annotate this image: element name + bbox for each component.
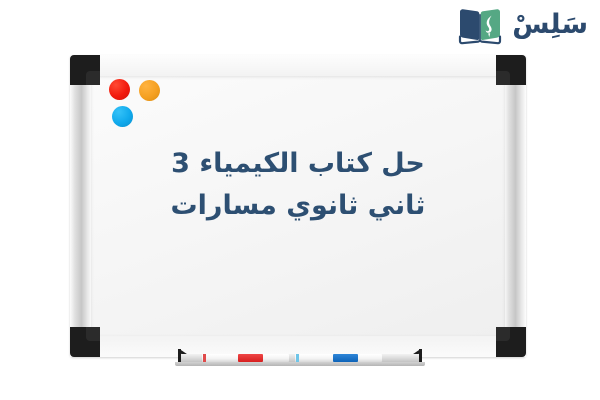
magnet-blue[interactable] xyxy=(112,106,133,127)
banner-stage: سَلِسْ حل كتاب الكيمياء 3 ثاني ثانوي مسا… xyxy=(0,0,600,400)
magnet-orange[interactable] xyxy=(139,80,160,101)
marker-blue-tip xyxy=(296,354,299,362)
magnet-group xyxy=(100,79,186,137)
whiteboard-frame-rail-right xyxy=(504,55,526,357)
headline-line-2: ثاني ثانوي مسارات xyxy=(100,185,496,227)
tray-lip xyxy=(175,362,425,366)
board-headline: حل كتاب الكيمياء 3 ثاني ثانوي مسارات xyxy=(100,143,496,227)
brand-name: سَلِسْ xyxy=(512,11,588,41)
marker-red-tip xyxy=(203,354,206,362)
corner-bottom-left xyxy=(70,327,100,357)
brand-logo[interactable]: سَلِسْ xyxy=(457,4,588,48)
marker-red-band xyxy=(238,354,263,362)
corner-top-left xyxy=(70,55,100,85)
headline-line-1: حل كتاب الكيمياء 3 xyxy=(100,143,496,185)
whiteboard: حل كتاب الكيمياء 3 ثاني ثانوي مسارات xyxy=(70,55,526,357)
whiteboard-frame-rail-left xyxy=(70,55,92,357)
magnet-red[interactable] xyxy=(109,79,130,100)
marker-blue-band xyxy=(333,354,358,362)
marker-tray xyxy=(175,348,425,370)
corner-bottom-right xyxy=(496,327,526,357)
open-book-icon xyxy=(457,6,503,46)
corner-top-right xyxy=(496,55,526,85)
